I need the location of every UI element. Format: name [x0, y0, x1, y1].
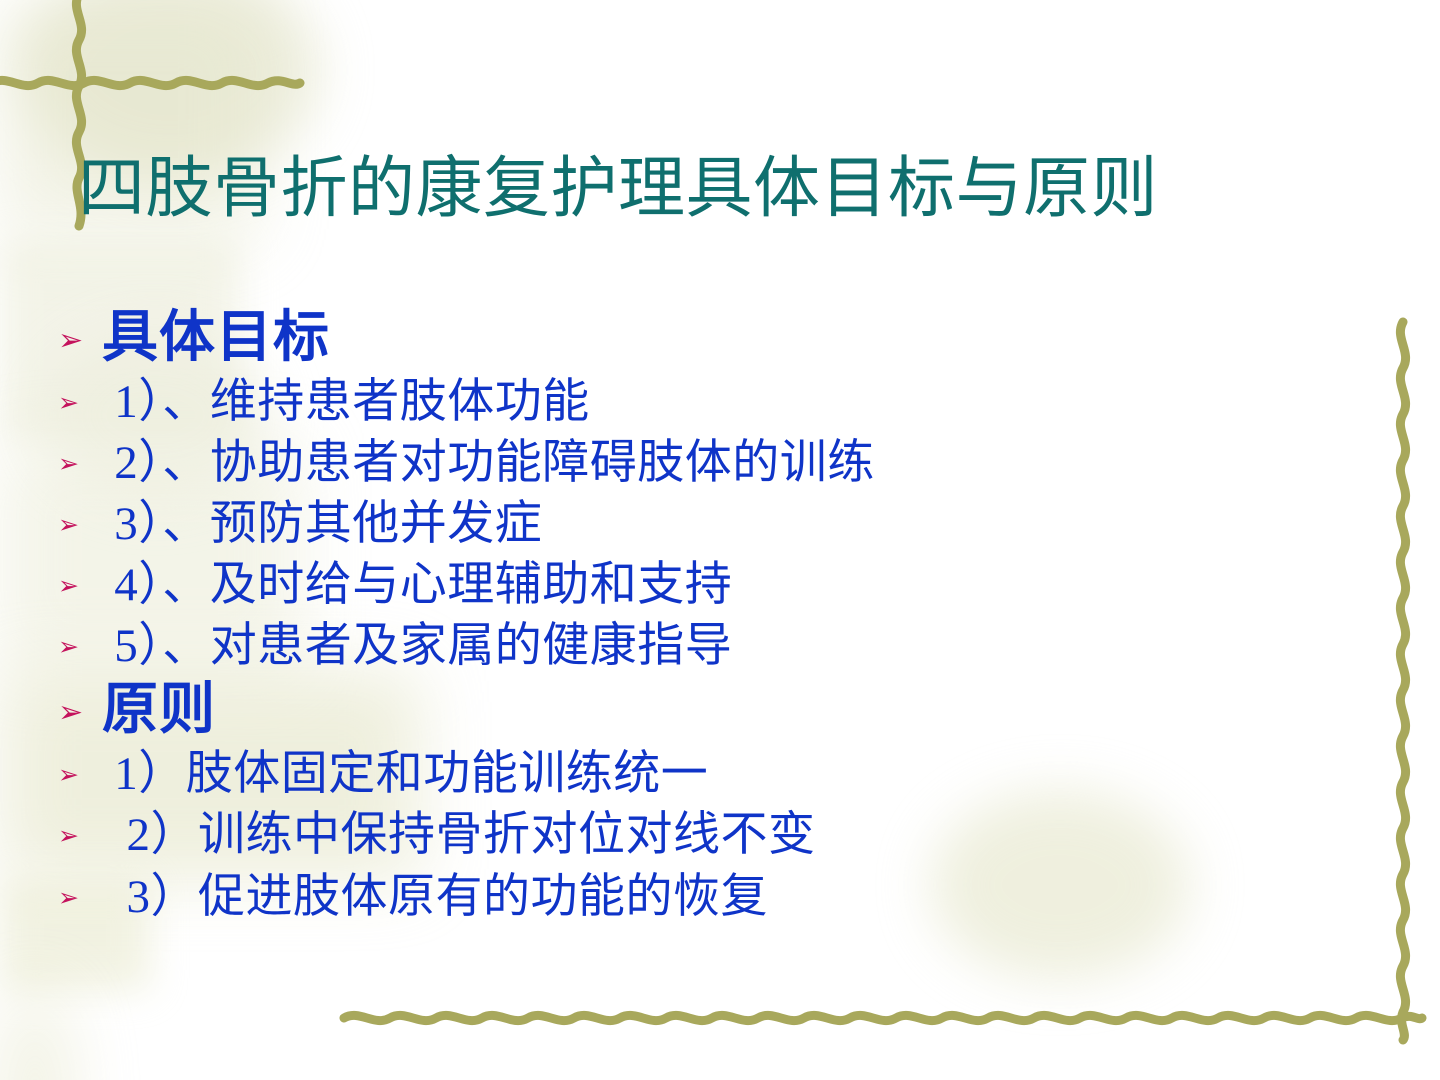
list-item-principle-3: ➢ 3）促进肢体原有的功能的恢复: [58, 867, 1398, 928]
arrow-bullet-icon: ➢: [58, 824, 102, 849]
bullet-list: ➢ 具体目标 ➢ 1）、维持患者肢体功能 ➢ 2）、协助患者对功能障碍肢体的训练…: [58, 305, 1398, 928]
list-item-label: 3）、预防其他并发症: [102, 494, 542, 555]
arrow-bullet-icon: ➢: [58, 635, 102, 660]
page-title: 四肢骨折的康复护理具体目标与原则: [78, 153, 1398, 225]
vine-bottom-horizontal: [344, 1001, 1424, 1035]
list-item-label: 原则: [102, 677, 216, 742]
arrow-bullet-icon: ➢: [58, 574, 102, 599]
list-item-label: 3）促进肢体原有的功能的恢复: [102, 867, 768, 928]
list-item-label: 1）肢体固定和功能训练统一: [102, 744, 708, 805]
list-item-label: 5）、对患者及家属的健康指导: [102, 616, 732, 677]
list-item-label: 2）训练中保持骨折对位对线不变: [102, 805, 816, 866]
arrow-bullet-icon: ➢: [58, 391, 102, 416]
arrow-bullet-icon: ➢: [58, 698, 102, 728]
arrow-bullet-icon: ➢: [58, 763, 102, 788]
watermark-lotus-stem: [0, 990, 70, 1080]
arrow-bullet-icon: ➢: [58, 886, 102, 911]
list-item-label: 2）、协助患者对功能障碍肢体的训练: [102, 433, 875, 494]
arrow-bullet-icon: ➢: [58, 326, 102, 356]
list-item-label: 4）、及时给与心理辅助和支持: [102, 555, 732, 616]
list-item-principle-2: ➢ 2）训练中保持骨折对位对线不变: [58, 805, 1398, 866]
arrow-bullet-icon: ➢: [58, 513, 102, 538]
list-item-goal-1: ➢ 1）、维持患者肢体功能: [58, 372, 1398, 433]
vine-topleft-horizontal: [0, 66, 302, 100]
list-item-goal-2: ➢ 2）、协助患者对功能障碍肢体的训练: [58, 433, 1398, 494]
list-item-goal-3: ➢ 3）、预防其他并发症: [58, 494, 1398, 555]
list-item-heading-principles: ➢ 原则: [58, 677, 1398, 742]
slide-canvas: 四肢骨折的康复护理具体目标与原则 ➢ 具体目标 ➢ 1）、维持患者肢体功能 ➢ …: [0, 0, 1440, 1080]
list-item-goal-4: ➢ 4）、及时给与心理辅助和支持: [58, 555, 1398, 616]
arrow-bullet-icon: ➢: [58, 452, 102, 477]
list-item-principle-1: ➢ 1）肢体固定和功能训练统一: [58, 744, 1398, 805]
list-item-goal-5: ➢ 5）、对患者及家属的健康指导: [58, 616, 1398, 677]
list-item-label: 1）、维持患者肢体功能: [102, 372, 590, 433]
list-item-label: 具体目标: [102, 305, 330, 370]
list-item-heading-goals: ➢ 具体目标: [58, 305, 1398, 370]
